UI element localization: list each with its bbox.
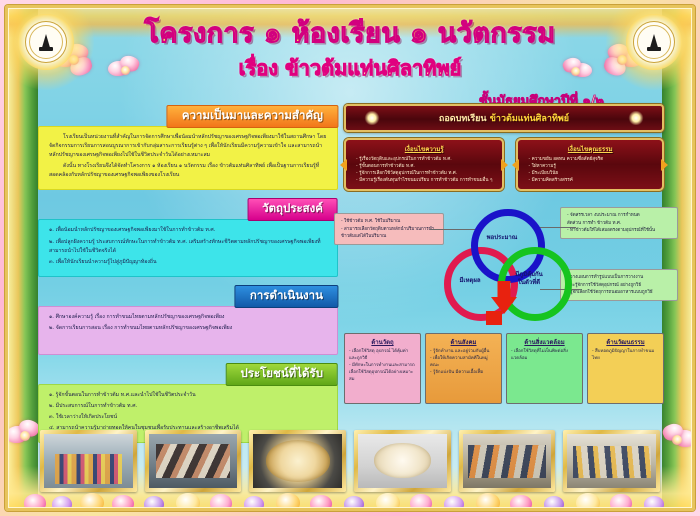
operation-item: ๒. จัดการเรียนการสอน เรื่อง การทำขนมไทยต…: [49, 324, 327, 333]
page-subtitle: เรื่อง ข้าวต้มแท่นศิลาทิพย์: [0, 52, 700, 84]
arrow-left-icon: [512, 159, 519, 171]
school-emblem-right: [626, 14, 682, 70]
morality-condition-panel: เงื่อนไขคุณธรรม - ความขยัน อดทน ความซื่อ…: [516, 138, 664, 191]
right-content-column: ถอดบทเรียน ข้าวต้มแท่นศิลาทิพย์ เงื่อนไข…: [344, 104, 664, 404]
lesson-banner-subject: ข้าวต้มแท่นศิลาทิพย์: [490, 114, 569, 124]
knowledge-item: - มีความรู้เรื่องต้นทุนกำไรขนมเปรียบ การ…: [356, 177, 492, 184]
lesson-banner-prefix: ถอดบทเรียน: [439, 114, 487, 124]
left-content-column: ความเป็นมาและความสำคัญ โรงเรียนเป็นหน่วย…: [38, 104, 338, 450]
moderation-detail-line: - จัดสรรเวลา งบประมาณ การกำหนด: [567, 212, 671, 219]
section-body-objectives: ๑. เพื่อน้อมนำหลักปรัชญาของเศรษฐกิจพอเพี…: [38, 219, 338, 276]
sufficiency-venn-diagram: - ใช้ข้าวต้ม ท.ศ. ใช้ในปริมาณ - สามารถเล…: [344, 207, 664, 327]
knowledge-item: - รู้เรื่องวัตถุดิบและอุปกรณ์ในการทำข้าว…: [356, 156, 492, 163]
operation-item: ๑. ศึกษาองค์ความรู้ เรื่อง การทำขนมไทยตา…: [49, 313, 327, 322]
objective-item: ๒. เพื่อปลูกฝังความรู้ ประสบการณ์ทักษะใน…: [49, 238, 327, 256]
immunity-detail-line: และรู้จักการใช้วัสดุอุปกรณ์ อย่างถูกวิธี: [567, 282, 671, 289]
background-paragraph: ดังนั้น ทางโรงเรียนจึงได้จัดทำโครงการ ๑ …: [49, 162, 327, 180]
section-body-operations: ๑. ศึกษาองค์ความรู้ เรื่อง การทำขนมไทยตา…: [38, 306, 338, 355]
section-heading-operations: การดำเนินงาน: [235, 285, 338, 308]
benefit-item: ๑. รู้จักขั้นตอนในการทำข้าวต้ม ท.ศ.และนำ…: [49, 391, 327, 400]
aspect-item: - เพื่อให้เกิดความสามัคคีในหมู่คณะ: [430, 356, 497, 370]
reason-detail-line: - ใช้ข้าวต้ม ท.ศ. ใช้ในปริมาณ: [341, 218, 437, 225]
aspect-box-culture: ด้านวัฒนธรรม - สืบทอดภูมิปัญญาในการทำขนม…: [587, 333, 664, 404]
section-body-background: โรงเรียนเป็นหน่วยงานที่สำคัญในการจัดการศ…: [38, 126, 338, 190]
knowledge-condition-panel: เงื่อนไขความรู้ - รู้เรื่องวัตถุดิบและอุ…: [344, 138, 504, 191]
benefit-item: ๓. ใช้เวลาว่างให้เกิดประโยชน์: [49, 413, 327, 422]
aspect-box-social: ด้านสังคม - รู้จักทำงาน และอยู่ร่วมกับผู…: [425, 333, 502, 404]
aspect-heading-material: ด้านวัตถุ: [349, 337, 416, 347]
aspect-heading-culture: ด้านวัฒนธรรม: [592, 337, 659, 347]
photo-strip: [40, 430, 660, 492]
photo-students-seated: [563, 430, 660, 492]
moderation-detail-line: - ทำข้าวต้มให้ได้เสมอตรงตามอุปกรณ์ที่ใช้…: [567, 227, 671, 234]
venn-label-immunity-line1: มีภูมิคุ้มกัน: [515, 271, 543, 278]
moderation-detail-line: สัดส่วน การทำ ข้าวต้ม ท.ศ.: [567, 220, 671, 227]
aspect-item: - เลือกใช้วัสดุที่ไม่เป็นพิษต่อสิ่งแวดล้…: [511, 349, 578, 363]
morality-item: - มีความคิดสร้างสรรค์: [528, 177, 652, 184]
arrow-right-icon: [501, 159, 508, 171]
sparkle-icon: [628, 111, 644, 125]
section-heading-objectives: วัตถุประสงค์: [247, 198, 338, 221]
photo-classroom-activity: [459, 430, 556, 492]
morality-item: - ใฝ่หาความรู้: [528, 163, 652, 170]
venn-label-immunity-line2: ในตัวที่ดี: [518, 279, 540, 286]
section-operations: การดำเนินงาน ๑. ศึกษาองค์ความรู้ เรื่อง …: [38, 284, 338, 355]
reason-detail-box: - ใช้ข้าวต้ม ท.ศ. ใช้ในปริมาณ - สามารถเล…: [334, 213, 444, 245]
aspect-box-material: ด้านวัตถุ - เลือกใช้วัสดุ อุปกรณ์ ได้คุ้…: [344, 333, 421, 404]
objective-item: ๓. เพื่อให้นักเรียนนำความรู้ไปสู่ภูมิปัญ…: [49, 258, 327, 267]
section-objectives: วัตถุประสงค์ ๑. เพื่อน้อมนำหลักปรัชญาของ…: [38, 197, 338, 276]
photo-group-presentation: [40, 430, 137, 492]
photo-finished-dish: [354, 430, 451, 492]
reason-detail-line: - สามารถเลือกวัตถุดิบตามหลักนำปริมาณการท…: [341, 226, 437, 240]
poster-canvas: โครงการ ๑ ห้องเรียน ๑ นวัตกรรม เรื่อง ข้…: [0, 0, 700, 516]
arrow-right-icon: [661, 159, 668, 171]
aspect-item: - รู้จักแบ่งปัน มีความเอื้อเฟื้อ: [430, 370, 497, 377]
knowledge-item: - รู้ขั้นตอนการทำข้าวต้ม ท.ศ.: [356, 163, 492, 170]
immunity-detail-line: - รู้จักเลือกใช้วัตถุการถนอมอาหารแบบถูกว…: [567, 289, 671, 296]
conditions-row: เงื่อนไขความรู้ - รู้เรื่องวัตถุดิบและอุ…: [344, 138, 664, 191]
objective-item: ๑. เพื่อน้อมนำหลักปรัชญาของเศรษฐกิจพอเพี…: [49, 226, 327, 235]
aspect-item: - มีทักษะในการทำงานและสามารถเลือกใช้วัสด…: [349, 363, 416, 383]
aspect-heading-environment: ด้านสิ่งแวดล้อม: [511, 337, 578, 347]
knowledge-panel-heading: เงื่อนไขความรู้: [356, 144, 492, 154]
benefit-item: ๒. มีประสบการณ์ในการทำข้าวต้ม ท.ศ.: [49, 402, 327, 411]
moderation-detail-box: - จัดสรรเวลา งบประมาณ การกำหนด สัดส่วน ก…: [560, 207, 678, 239]
knowledge-item: - รู้จักการเลือกใช้วัสดุอุปกรณ์ในการทำข้…: [356, 170, 492, 177]
section-heading-background: ความเป็นมาและความสำคัญ: [167, 105, 338, 128]
poster-header: โครงการ ๑ ห้องเรียน ๑ นวัตกรรม เรื่อง ข้…: [0, 8, 700, 114]
aspect-box-environment: ด้านสิ่งแวดล้อม - เลือกใช้วัสดุที่ไม่เป็…: [506, 333, 583, 404]
aspect-heading-social: ด้านสังคม: [430, 337, 497, 347]
immunity-detail-line: - วางแผนการทำรูปแบบเป็นการวางงาน: [567, 274, 671, 281]
lesson-banner: ถอดบทเรียน ข้าวต้มแท่นศิลาทิพย์: [344, 104, 664, 132]
section-background: ความเป็นมาและความสำคัญ โรงเรียนเป็นหน่วย…: [38, 104, 338, 190]
venn-label-reason: มีเหตุผล: [437, 275, 503, 285]
connector-line: [430, 229, 476, 230]
morality-panel-heading: เงื่อนไขคุณธรรม: [528, 144, 652, 154]
photo-students-preparing: [145, 430, 242, 492]
page-title: โครงการ ๑ ห้องเรียน ๑ นวัตกรรม: [0, 8, 700, 48]
down-arrow-icon: [491, 297, 517, 314]
section-heading-benefits: ประโยชน์ที่ได้รับ: [225, 363, 338, 386]
sparkle-icon: [364, 111, 380, 125]
arrow-left-icon: [340, 159, 347, 171]
four-aspects-row: ด้านวัตถุ - เลือกใช้วัสดุ อุปกรณ์ ได้คุ้…: [344, 333, 664, 404]
venn-label-moderation: พอประมาณ: [468, 232, 536, 242]
immunity-detail-box: - วางแผนการทำรูปแบบเป็นการวางงาน และรู้จ…: [560, 269, 678, 301]
photo-rice-pot: [249, 430, 346, 492]
morality-item: - มีระเบียบวินัย: [528, 170, 652, 177]
background-paragraph: โรงเรียนเป็นหน่วยงานที่สำคัญในการจัดการศ…: [49, 133, 327, 160]
aspect-item: - สืบทอดภูมิปัญญาในการทำขนมไทย: [592, 349, 659, 363]
school-emblem-left: [18, 14, 74, 70]
morality-item: - ความขยัน อดทน ความซื่อสัตย์สุจริต: [528, 156, 652, 163]
aspect-item: - เลือกใช้วัสดุ อุปกรณ์ ได้คุ้มค่าและถูก…: [349, 349, 416, 363]
